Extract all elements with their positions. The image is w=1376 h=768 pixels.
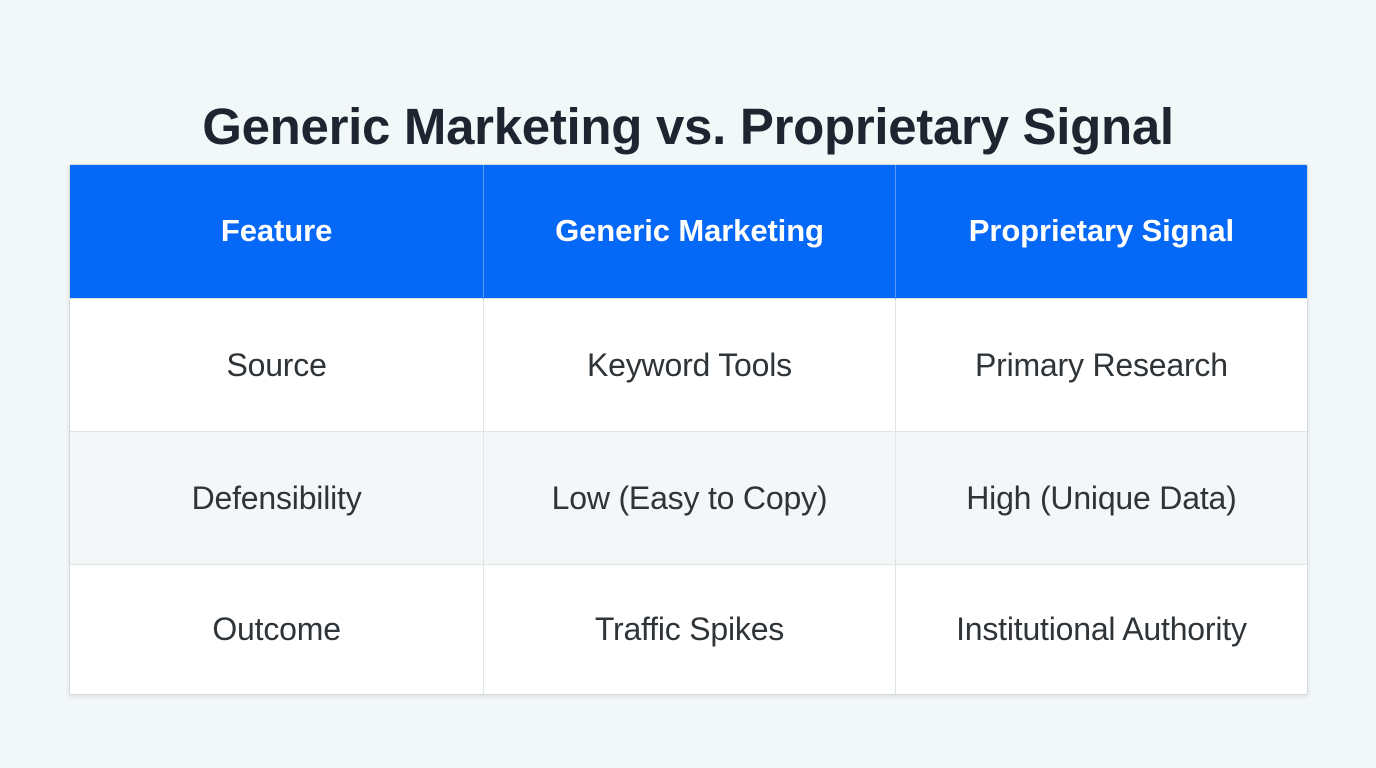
column-header-proprietary-signal: Proprietary Signal (895, 165, 1307, 298)
comparison-table: Feature Generic Marketing Proprietary Si… (70, 165, 1307, 694)
table-body: Source Keyword Tools Primary Research De… (70, 298, 1307, 694)
comparison-table-container: Feature Generic Marketing Proprietary Si… (69, 164, 1308, 695)
cell-generic-marketing: Low (Easy to Copy) (484, 431, 896, 564)
cell-generic-marketing: Keyword Tools (484, 298, 896, 431)
cell-feature: Outcome (70, 564, 484, 694)
cell-feature: Defensibility (70, 431, 484, 564)
cell-proprietary-signal: Primary Research (895, 298, 1307, 431)
table-header: Feature Generic Marketing Proprietary Si… (70, 165, 1307, 298)
slide-canvas: Generic Marketing vs. Proprietary Signal… (0, 0, 1376, 768)
table-row: Source Keyword Tools Primary Research (70, 298, 1307, 431)
table-row: Outcome Traffic Spikes Institutional Aut… (70, 564, 1307, 694)
cell-proprietary-signal: High (Unique Data) (895, 431, 1307, 564)
column-header-generic-marketing: Generic Marketing (484, 165, 896, 298)
cell-feature: Source (70, 298, 484, 431)
column-header-feature: Feature (70, 165, 484, 298)
page-title: Generic Marketing vs. Proprietary Signal (0, 96, 1376, 158)
table-row: Defensibility Low (Easy to Copy) High (U… (70, 431, 1307, 564)
cell-proprietary-signal: Institutional Authority (895, 564, 1307, 694)
table-header-row: Feature Generic Marketing Proprietary Si… (70, 165, 1307, 298)
cell-generic-marketing: Traffic Spikes (484, 564, 896, 694)
